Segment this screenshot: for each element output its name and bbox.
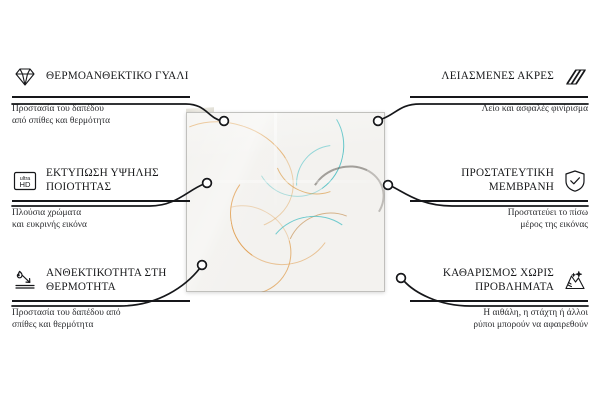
feature-heat-resistant-glass: ΘΕΡΜΟΑΝΘΕΚΤΙΚΟ ΓΥΑΛΙ Προστασία του δαπέδ…	[12, 62, 190, 128]
feature-divider	[12, 96, 190, 98]
feature-head: ΠΡΟΣΤΑΤΕΥΤΙΚΗ ΜΕΜΒΡΑΝΗ	[410, 166, 588, 196]
feature-desc-line-1: Πλούσια χρώματα	[12, 207, 190, 220]
feature-easy-cleaning: ΚΑΘΑΡΙΣΜΟΣ ΧΩΡΙΣ ΠΡΟΒΛΗΜΑΤΑ Η αιθάλη, η …	[410, 266, 588, 332]
diagonal-lines-icon	[562, 64, 588, 90]
feature-description: Προστασία του δαπέδου από σπίθες και θερ…	[12, 103, 190, 128]
feature-head: ΘΕΡΜΟΑΝΘΕΚΤΙΚΟ ΓΥΑΛΙ	[12, 62, 190, 92]
feature-protective-membrane: ΠΡΟΣΤΑΤΕΥΤΙΚΗ ΜΕΜΒΡΑΝΗ Προστατεύει το πί…	[410, 166, 588, 232]
feature-divider	[410, 96, 588, 98]
feature-description: Λείο και ασφαλές φινίρισμα	[410, 103, 588, 116]
feature-description: Προστατεύει το πίσω μέρος της εικόνας	[410, 207, 588, 232]
feature-divider	[12, 300, 190, 302]
flame-heat-resistance-icon	[12, 268, 38, 294]
feature-high-quality-print: ultra HD ΕΚΤΥΠΩΣΗ ΥΨΗΛΗΣ ΠΟΙΟΤΗΤΑΣ Πλούσ…	[12, 166, 190, 232]
product-glass-panel	[186, 112, 385, 292]
feature-desc-line-1: Η αιθάλη, η στάχτη ή άλλοι	[410, 307, 588, 320]
connector-dot-right-bottom	[397, 274, 406, 283]
ultra-hd-icon: ultra HD	[12, 168, 38, 194]
shield-check-icon	[562, 168, 588, 194]
feature-title: ΚΑΘΑΡΙΣΜΟΣ ΧΩΡΙΣ ΠΡΟΒΛΗΜΑΤΑ	[410, 267, 554, 294]
diamond-icon	[12, 64, 38, 90]
feature-title: ΕΚΤΥΠΩΣΗ ΥΨΗΛΗΣ ΠΟΙΟΤΗΤΑΣ	[46, 167, 190, 194]
feature-title: ΠΡΟΣΤΑΤΕΥΤΙΚΗ ΜΕΜΒΡΑΝΗ	[410, 167, 554, 194]
feature-divider	[410, 200, 588, 202]
feature-desc-line-1: Προστατεύει το πίσω	[410, 207, 588, 220]
sparkle-clean-icon	[562, 268, 588, 294]
feature-description: Προστασία του δαπέδου από σπίθες και θερ…	[12, 307, 190, 332]
panel-artwork	[186, 112, 385, 292]
feature-head: ΚΑΘΑΡΙΣΜΟΣ ΧΩΡΙΣ ΠΡΟΒΛΗΜΑΤΑ	[410, 266, 588, 296]
feature-desc-line-1: Προστασία του δαπέδου από	[12, 307, 190, 320]
feature-head: ΛΕΙΑΣΜΕΝΕΣ ΑΚΡΕΣ	[410, 62, 588, 92]
feature-desc-line-2: από σπίθες και θερμότητα	[12, 115, 190, 128]
feature-head: ultra HD ΕΚΤΥΠΩΣΗ ΥΨΗΛΗΣ ΠΟΙΟΤΗΤΑΣ	[12, 166, 190, 196]
feature-title: ΘΕΡΜΟΑΝΘΕΚΤΙΚΟ ΓΥΑΛΙ	[46, 70, 189, 84]
feature-desc-line-2: ρύποι μπορούν να αφαιρεθούν	[410, 319, 588, 332]
feature-desc-line-1: Προστασία του δαπέδου	[12, 103, 190, 116]
feature-desc-line-2: και ευκρινής εικόνα	[12, 219, 190, 232]
feature-polished-edges: ΛΕΙΑΣΜΕΝΕΣ ΑΚΡΕΣ Λείο και ασφαλές φινίρι…	[410, 62, 588, 115]
svg-text:HD: HD	[20, 180, 31, 189]
feature-description: Η αιθάλη, η στάχτη ή άλλοι ρύποι μπορούν…	[410, 307, 588, 332]
feature-description: Πλούσια χρώματα και ευκρινής εικόνα	[12, 207, 190, 232]
feature-divider	[410, 300, 588, 302]
feature-title: ΛΕΙΑΣΜΕΝΕΣ ΑΚΡΕΣ	[441, 70, 554, 84]
feature-head: ΑΝΘΕΚΤΙΚΟΤΗΤΑ ΣΤΗ ΘΕΡΜΟΤΗΤΑ	[12, 266, 190, 296]
panel-border	[186, 112, 385, 292]
feature-divider	[12, 200, 190, 202]
feature-desc-line-1: Λείο και ασφαλές φινίρισμα	[410, 103, 588, 116]
infographic-stage: ΘΕΡΜΟΑΝΘΕΚΤΙΚΟ ΓΥΑΛΙ Προστασία του δαπέδ…	[0, 0, 600, 400]
feature-desc-line-2: μέρος της εικόνας	[410, 219, 588, 232]
feature-desc-line-2: σπίθες και θερμότητα	[12, 319, 190, 332]
feature-heat-durability: ΑΝΘΕΚΤΙΚΟΤΗΤΑ ΣΤΗ ΘΕΡΜΟΤΗΤΑ Προστασία το…	[12, 266, 190, 332]
feature-title: ΑΝΘΕΚΤΙΚΟΤΗΤΑ ΣΤΗ ΘΕΡΜΟΤΗΤΑ	[46, 267, 190, 294]
